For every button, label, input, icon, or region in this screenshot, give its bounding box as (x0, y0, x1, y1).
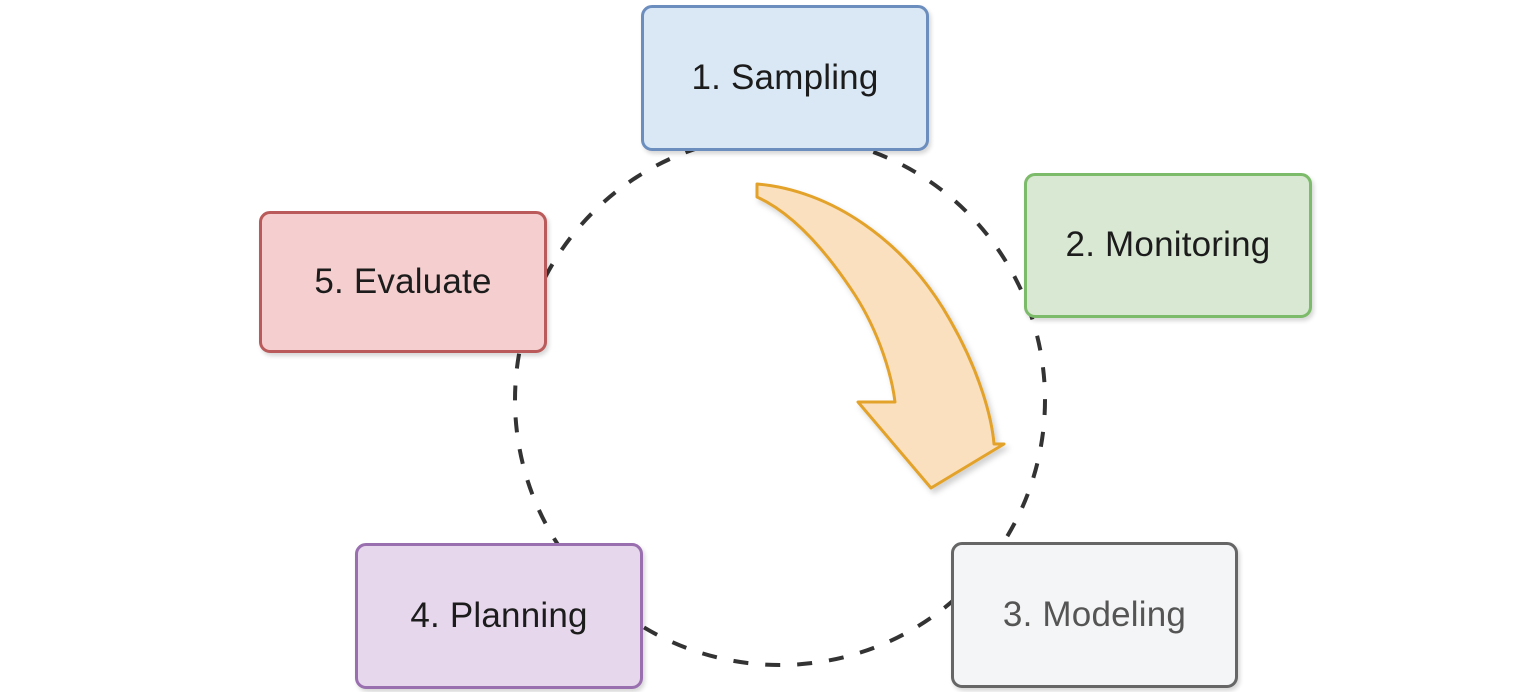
node-planning-label: 4. Planning (410, 597, 587, 636)
node-modeling[interactable]: 3. Modeling (951, 542, 1238, 688)
node-modeling-label: 3. Modeling (1003, 596, 1186, 635)
node-monitoring-label: 2. Monitoring (1066, 226, 1271, 265)
node-planning[interactable]: 4. Planning (355, 543, 643, 689)
clockwise-flow-arrow (757, 184, 1004, 488)
node-sampling-label: 1. Sampling (691, 59, 878, 98)
node-sampling[interactable]: 1. Sampling (641, 5, 929, 151)
node-monitoring[interactable]: 2. Monitoring (1024, 173, 1312, 318)
node-evaluate-label: 5. Evaluate (314, 263, 491, 302)
node-evaluate[interactable]: 5. Evaluate (259, 211, 547, 353)
diagram-canvas: 1. Sampling 2. Monitoring 3. Modeling 4.… (0, 0, 1536, 692)
